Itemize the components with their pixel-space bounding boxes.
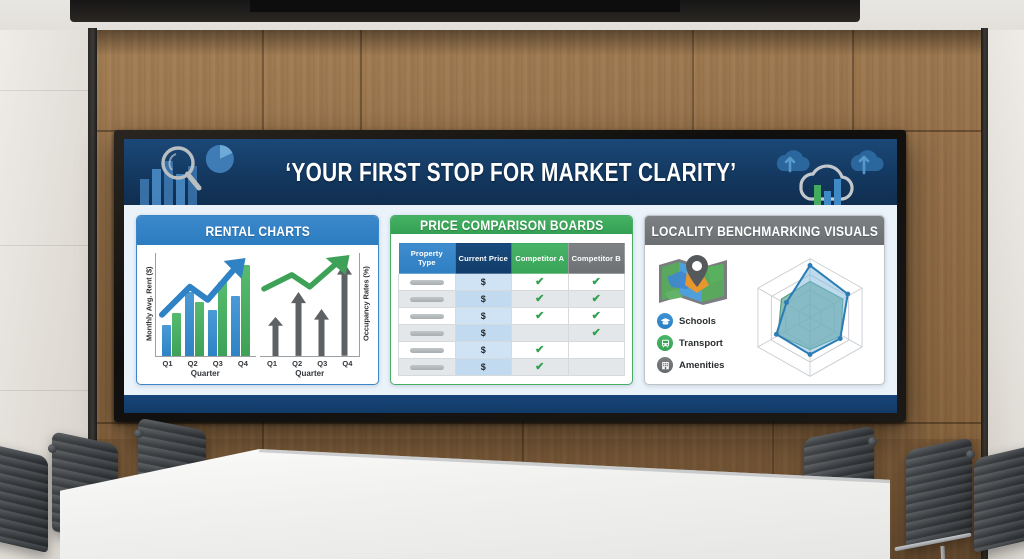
chart-occupancy-plot <box>260 253 361 357</box>
radar-chart-locality[interactable] <box>742 252 878 378</box>
panel-rental-charts-header: RENTAL CHARTS <box>137 216 378 245</box>
check-icon: ✔ <box>592 310 601 322</box>
cell-competitor-a: ✔ <box>512 342 569 359</box>
cell-competitor-a: ✔ <box>512 308 569 325</box>
cloud-upload-icon <box>777 150 810 171</box>
check-icon: ✔ <box>535 310 544 322</box>
chart-rent-ylabel: Monthly Avg. Rent ($) <box>143 251 155 357</box>
table-row[interactable]: $ ✔ ✔ <box>399 308 625 325</box>
cell-current-price: $ <box>455 359 512 376</box>
legend-label-transport: Transport <box>679 338 723 349</box>
slide-body: RENTAL CHARTS Monthly Avg. Rent ($) <box>124 205 897 395</box>
table-row[interactable]: $ ✔ <box>399 342 625 359</box>
check-icon: ✔ <box>535 344 544 356</box>
cell-competitor-a: ✔ <box>512 359 569 376</box>
cell-property-type <box>399 342 456 359</box>
chart-occupancy-xlabel: Quarter <box>260 368 373 378</box>
property-placeholder <box>410 365 444 370</box>
panel-price-comparison-header: PRICE COMPARISON BOARDS <box>391 216 632 234</box>
cell-competitor-a: ✔ <box>512 274 569 291</box>
slide-header: ‘YOUR FIRST STOP FOR MARKET CLARITY’ <box>124 139 897 205</box>
radar-series-subject <box>776 265 847 354</box>
chart-occupancy-rates[interactable]: Occupancy Rates (%) Q1 Q2 Q3 Q4 Quarter <box>260 251 373 378</box>
display-screen-bezel: ‘YOUR FIRST STOP FOR MARKET CLARITY’ <box>114 130 906 422</box>
cell-competitor-a <box>512 325 569 342</box>
presentation-slide: ‘YOUR FIRST STOP FOR MARKET CLARITY’ <box>124 139 897 413</box>
property-placeholder <box>410 314 444 319</box>
arrow-q4 <box>337 263 352 356</box>
panel-locality-benchmarking-header: LOCALITY BENCHMARKING VISUALS <box>645 216 884 245</box>
bus-icon <box>657 335 673 351</box>
check-icon: ✔ <box>592 276 601 288</box>
cell-competitor-b: ✔ <box>568 308 625 325</box>
legend-label-amenities: Amenities <box>679 360 724 371</box>
cell-current-price: $ <box>455 291 512 308</box>
panel-rental-charts-body: Monthly Avg. Rent ($) <box>137 245 378 384</box>
cell-competitor-b: ✔ <box>568 325 625 342</box>
property-placeholder <box>410 297 444 302</box>
slide-headline: ‘YOUR FIRST STOP FOR MARKET CLARITY’ <box>285 157 736 188</box>
ceiling-recess-inner <box>250 0 680 12</box>
cell-competitor-b: ✔ <box>568 274 625 291</box>
check-icon: ✔ <box>535 361 544 373</box>
conference-room-scene: ‘YOUR FIRST STOP FOR MARKET CLARITY’ <box>0 0 1024 559</box>
bar-series1-q4 <box>231 296 240 356</box>
column-header-current-price[interactable]: Current Price <box>455 243 512 274</box>
check-icon: ✔ <box>592 327 601 339</box>
arrow-q3 <box>314 309 329 356</box>
column-header-competitor-b[interactable]: Competitor B <box>568 243 625 274</box>
table-row[interactable]: $ ✔ <box>399 359 625 376</box>
price-comparison-table-body: $ ✔ ✔ $ ✔ ✔ <box>399 274 625 376</box>
chart-rent-xticks: Q1 Q2 Q3 Q4 <box>143 357 256 368</box>
arrow-q2 <box>291 292 306 356</box>
pie-chart-icon <box>206 145 234 173</box>
legend-item-transport[interactable]: Transport <box>657 335 738 351</box>
cloud-upload-icon <box>851 150 884 173</box>
legend-item-schools[interactable]: Schools <box>657 313 738 329</box>
bar-series1-q1 <box>162 325 171 356</box>
bar-group-q3 <box>208 253 227 356</box>
check-icon: ✔ <box>535 293 544 305</box>
property-placeholder <box>410 348 444 353</box>
building-icon <box>657 357 673 373</box>
graduation-cap-icon <box>657 313 673 329</box>
chart-rent-plot <box>155 253 256 357</box>
bar-group-q1 <box>162 253 181 356</box>
cell-competitor-b <box>568 359 625 376</box>
legend-label-schools: Schools <box>679 316 716 327</box>
cell-current-price: $ <box>455 325 512 342</box>
bar-chart-icon <box>138 141 268 205</box>
legend-item-amenities[interactable]: Amenities <box>657 357 738 373</box>
chart-rent-xlabel: Quarter <box>143 368 256 378</box>
property-placeholder <box>410 331 444 336</box>
chart-occupancy-ylabel: Occupancy Rates (%) <box>360 251 372 357</box>
check-icon: ✔ <box>592 293 601 305</box>
folded-map-with-pin-icon <box>657 255 729 307</box>
bar-series2-q4 <box>241 265 250 356</box>
cell-current-price: $ <box>455 308 512 325</box>
cell-competitor-b: ✔ <box>568 291 625 308</box>
column-header-property-type[interactable]: Property Type <box>399 243 456 274</box>
panel-price-comparison-body: Property Type Current Price Competitor A… <box>391 234 632 384</box>
bar-series2-q2 <box>195 302 204 356</box>
arrow-q1 <box>268 317 283 356</box>
column-header-competitor-a[interactable]: Competitor A <box>512 243 569 274</box>
cell-property-type <box>399 274 456 291</box>
bar-series1-q2 <box>185 292 194 356</box>
table-header-row: Property Type Current Price Competitor A… <box>399 243 625 274</box>
chair-right-3 <box>968 452 1024 559</box>
check-icon: ✔ <box>535 276 544 288</box>
property-placeholder <box>410 280 444 285</box>
price-comparison-table[interactable]: Property Type Current Price Competitor A… <box>398 242 625 376</box>
chart-rent-bars <box>160 253 253 356</box>
chart-occupancy-xticks: Q1 Q2 Q3 Q4 <box>260 357 373 368</box>
bar-series1-q3 <box>208 310 217 356</box>
panel-locality-benchmarking-body: Schools <box>645 245 884 384</box>
cell-competitor-a: ✔ <box>512 291 569 308</box>
slide-footer-strip <box>124 395 897 413</box>
table-row[interactable]: $ ✔ ✔ <box>399 291 625 308</box>
cell-current-price: $ <box>455 342 512 359</box>
cell-property-type <box>399 359 456 376</box>
cell-property-type <box>399 325 456 342</box>
cell-current-price: $ <box>455 274 512 291</box>
chart-monthly-avg-rent[interactable]: Monthly Avg. Rent ($) <box>143 251 256 378</box>
panel-rental-charts[interactable]: RENTAL CHARTS Monthly Avg. Rent ($) <box>136 215 379 385</box>
cell-property-type <box>399 291 456 308</box>
cell-competitor-b <box>568 342 625 359</box>
cell-property-type <box>399 308 456 325</box>
bar-group-q4 <box>231 253 250 356</box>
table-row[interactable]: $ ✔ <box>399 325 625 342</box>
cloud-bar-chart-icon <box>769 141 887 205</box>
table-row[interactable]: $ ✔ ✔ <box>399 274 625 291</box>
bar-group-q2 <box>185 253 204 356</box>
locality-legend: Schools <box>657 313 738 373</box>
panel-locality-benchmarking[interactable]: LOCALITY BENCHMARKING VISUALS <box>644 215 885 385</box>
wall-shadow <box>92 30 988 56</box>
bar-series2-q3 <box>218 282 227 356</box>
panel-price-comparison[interactable]: PRICE COMPARISON BOARDS Property Type Cu… <box>390 215 633 385</box>
chart-occupancy-arrows <box>264 253 357 356</box>
bar-series2-q1 <box>172 313 181 356</box>
